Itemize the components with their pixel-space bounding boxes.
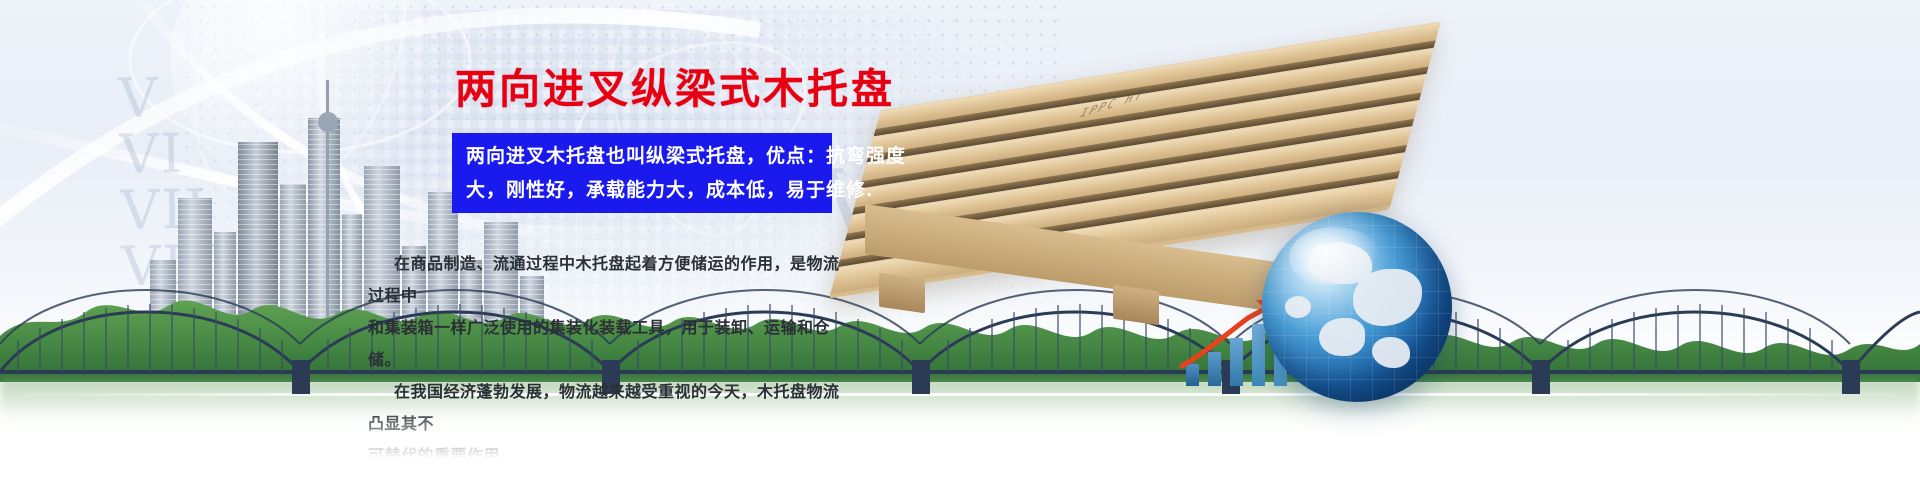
pallet-foot-left	[879, 273, 925, 313]
description-line-1: 在商品制造、流通过程中木托盘起着方便储运的作用，是物流过程中	[368, 248, 848, 312]
earth-globe-image	[1262, 212, 1452, 402]
highlight-callout-box: 两向进叉木托盘也叫纵梁式托盘，优点：抗弯强度 大，刚性好，承载能力大，成本低，易…	[452, 133, 832, 213]
highlight-line-1: 两向进叉木托盘也叫纵梁式托盘，优点：抗弯强度	[466, 139, 818, 173]
highlight-line-2: 大，刚性好，承载能力大，成本低，易于维修.	[466, 173, 818, 207]
page-title: 两向进叉纵梁式木托盘	[455, 55, 895, 115]
pallet-foot-center	[1113, 285, 1159, 325]
globe-highlight-decor	[1289, 227, 1380, 288]
product-banner: V VI VII VIII VIII	[0, 0, 1920, 500]
description-line-2: 和集装箱一样广泛使用的集装化装载工具，用于装卸、运输和仓储。	[368, 312, 848, 376]
bottom-fade-decor	[0, 408, 1920, 500]
